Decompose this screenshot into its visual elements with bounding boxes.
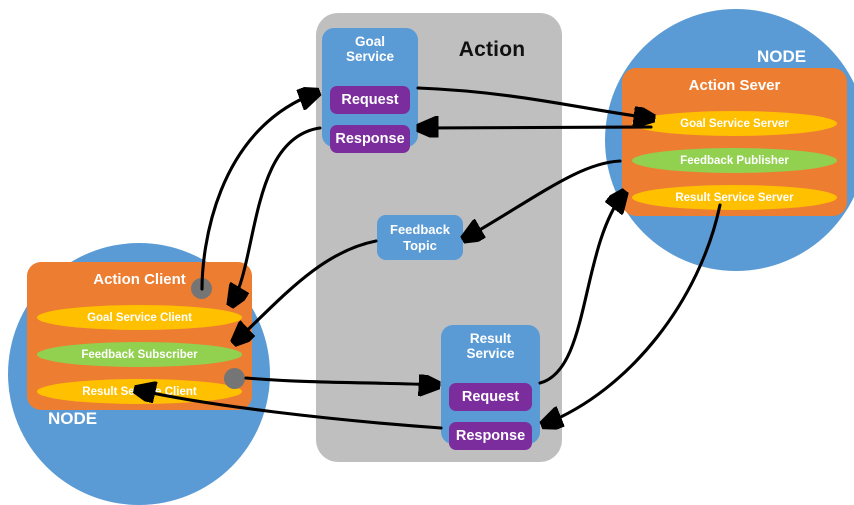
feedback-subscriber-endpoint[interactable]: Feedback Subscriber bbox=[37, 342, 242, 367]
result-service-title: Result Service bbox=[441, 331, 540, 361]
client-node-label: NODE bbox=[48, 409, 97, 429]
result-service-title-line2: Service bbox=[466, 346, 514, 361]
result-service-request-box[interactable]: Request bbox=[449, 383, 532, 411]
result-client-connector-dot bbox=[224, 368, 245, 389]
action-server-box: Action Sever Goal Service Server Feedbac… bbox=[622, 68, 847, 216]
feedback-topic-line1: Feedback bbox=[390, 222, 450, 238]
feedback-publisher-endpoint[interactable]: Feedback Publisher bbox=[632, 148, 837, 173]
result-service-title-line1: Result bbox=[470, 331, 511, 346]
action-client-box: Action Client Goal Service Client Feedba… bbox=[27, 262, 252, 410]
goal-service-title-line1: Goal bbox=[355, 34, 385, 49]
goal-service-title: Goal Service bbox=[322, 34, 418, 64]
result-service-server-endpoint[interactable]: Result Service Server bbox=[632, 185, 837, 210]
arrow-goal-client-to-request bbox=[202, 93, 316, 289]
feedback-topic-box[interactable]: Feedback Topic bbox=[377, 215, 463, 260]
result-service-client-endpoint[interactable]: Result Service Client bbox=[37, 379, 242, 404]
server-node-label: NODE bbox=[757, 47, 806, 67]
action-panel-title: Action bbox=[432, 38, 552, 62]
goal-service-server-endpoint[interactable]: Goal Service Server bbox=[632, 111, 837, 136]
goal-client-connector-dot bbox=[191, 278, 212, 299]
diagram-canvas: Action NODE Action Sever Goal Service Se… bbox=[0, 0, 854, 480]
result-service-response-box[interactable]: Response bbox=[449, 422, 532, 450]
goal-service-response-box[interactable]: Response bbox=[330, 125, 410, 153]
result-service-box: Result Service Request Response bbox=[441, 325, 540, 444]
goal-service-title-line2: Service bbox=[346, 49, 394, 64]
goal-service-client-endpoint[interactable]: Goal Service Client bbox=[37, 305, 242, 330]
goal-service-request-box[interactable]: Request bbox=[330, 86, 410, 114]
feedback-topic-line2: Topic bbox=[403, 238, 437, 254]
action-server-title: Action Sever bbox=[622, 77, 847, 94]
goal-service-box: Goal Service Request Response bbox=[322, 28, 418, 147]
action-client-title: Action Client bbox=[27, 271, 252, 288]
